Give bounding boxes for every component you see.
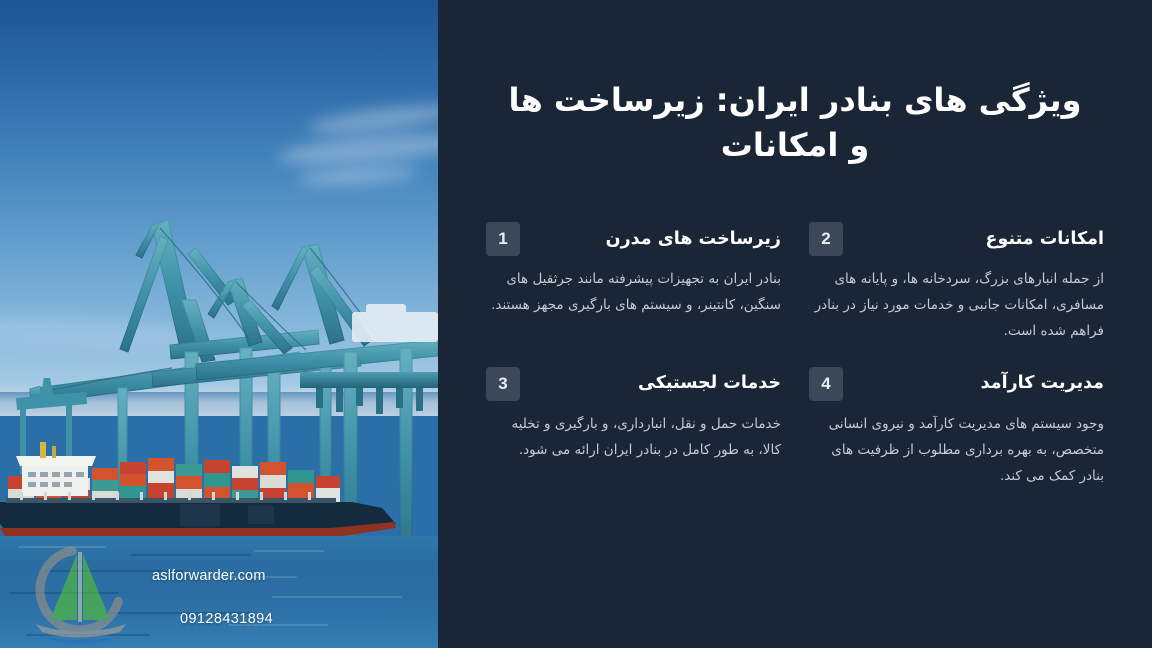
feature-card-1: زیرساخت های مدرن 1 بنادر ایران به تجهیزا…: [486, 222, 781, 345]
feature-card-2-body: از جمله انبارهای بزرگ، سردخانه ها، و پای…: [809, 267, 1104, 345]
slide-root: aslforwarder.com 09128431894 ویژگی های ب…: [0, 0, 1152, 648]
port-photo-panel: aslforwarder.com 09128431894: [0, 0, 438, 648]
watermark-phone: 09128431894: [180, 611, 273, 627]
feature-card-2: امکانات متنوع 2 از جمله انبارهای بزرگ، س…: [809, 222, 1104, 345]
page-title: ویژگی های بنادر ایران: زیرساخت ها و امکا…: [496, 78, 1094, 169]
feature-card-4-title: مدیریت کارآمد: [856, 372, 1104, 395]
container-ship-illustration: [0, 432, 438, 552]
feature-card-2-header: امکانات متنوع 2: [809, 222, 1104, 256]
feature-card-1-header: زیرساخت های مدرن 1: [486, 222, 781, 256]
feature-card-3-number-badge: 3: [486, 367, 520, 401]
sailboat-logo: [28, 544, 132, 644]
feature-card-3: خدمات لجستیکی 3 خدمات حمل و نقل، انباردا…: [486, 367, 781, 490]
feature-card-1-title: زیرساخت های مدرن: [533, 228, 781, 251]
feature-card-1-number-badge: 1: [486, 222, 520, 256]
feature-card-3-header: خدمات لجستیکی 3: [486, 367, 781, 401]
feature-card-3-title: خدمات لجستیکی: [533, 372, 781, 395]
content-panel: ویژگی های بنادر ایران: زیرساخت ها و امکا…: [438, 0, 1152, 648]
feature-card-2-title: امکانات متنوع: [856, 228, 1104, 251]
feature-card-4: مدیریت کارآمد 4 وجود سیستم های مدیریت کا…: [809, 367, 1104, 490]
feature-card-3-body: خدمات حمل و نقل، انبارداری، و بارگیری و …: [486, 412, 781, 464]
feature-card-4-body: وجود سیستم های مدیریت کارآمد و نیروی انس…: [809, 412, 1104, 490]
watermark-website: aslforwarder.com: [152, 568, 266, 584]
feature-card-2-number-badge: 2: [809, 222, 843, 256]
feature-card-1-body: بنادر ایران به تجهیزات پیشرفته مانند جرث…: [486, 267, 781, 319]
feature-card-4-header: مدیریت کارآمد 4: [809, 367, 1104, 401]
feature-card-4-number-badge: 4: [809, 367, 843, 401]
feature-cards-grid: امکانات متنوع 2 از جمله انبارهای بزرگ، س…: [486, 222, 1104, 489]
